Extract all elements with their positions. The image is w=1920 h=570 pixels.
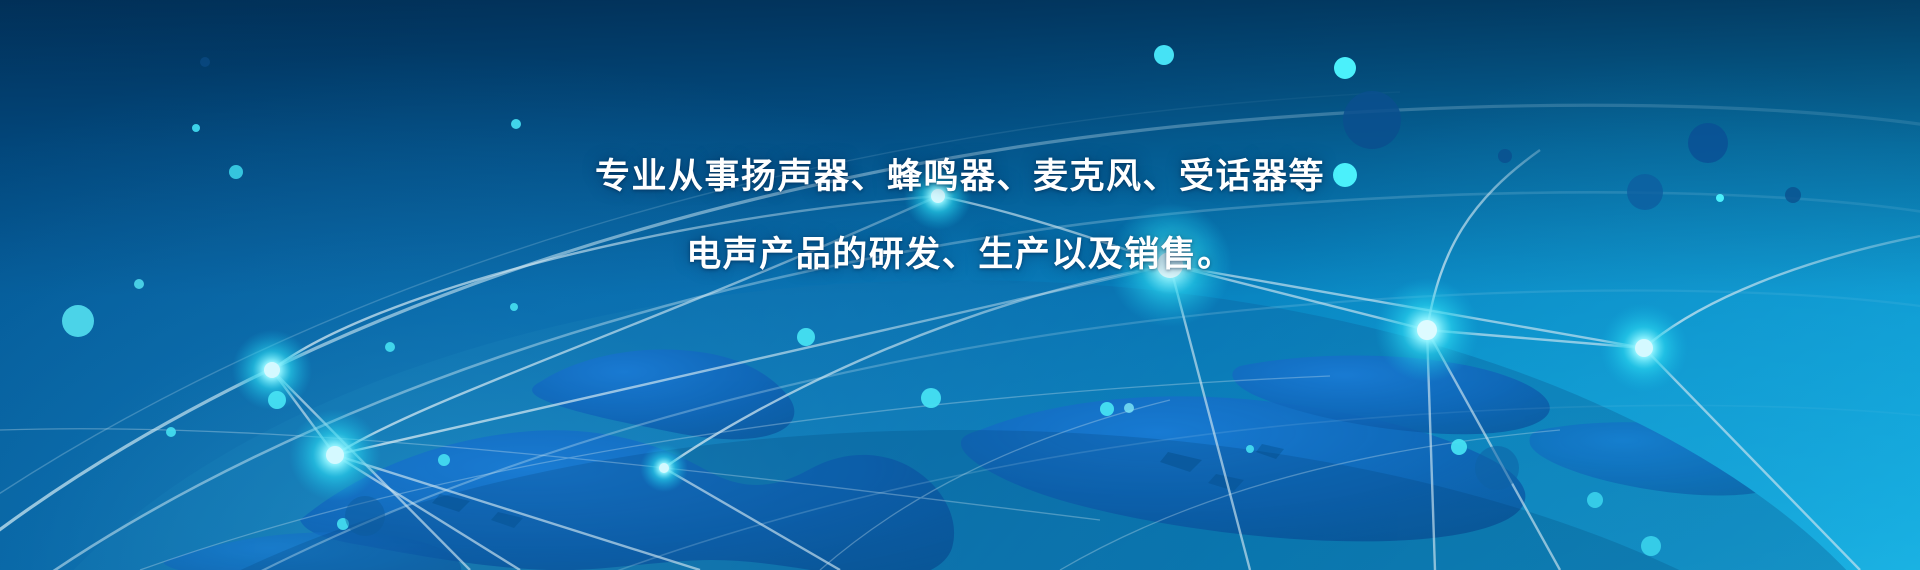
dot-navy-2 (1498, 149, 1512, 163)
dot-cyan-14 (438, 454, 450, 466)
dot-cyan-5 (1333, 163, 1357, 187)
dot-cyan-small-1 (192, 124, 200, 132)
dot-cyan-16 (797, 328, 815, 346)
dot-cyan-22 (1641, 536, 1661, 556)
dot-cyan-7 (229, 165, 243, 179)
dot-cyan-18 (1100, 402, 1114, 416)
dot-cyan-19 (1451, 439, 1467, 455)
dot-navy-7 (345, 496, 385, 536)
dot-navy-1 (1343, 91, 1401, 149)
dot-cyan-8 (62, 305, 94, 337)
dot-cyan-small-2 (511, 119, 521, 129)
dot-navy-4 (1688, 123, 1728, 163)
dot-cyan-11 (268, 391, 286, 409)
dot-cyan-9 (134, 279, 144, 289)
promo-banner: 专业从事扬声器、蜂鸣器、麦克风、受话器等 电声产品的研发、生产以及销售。 (0, 0, 1920, 570)
dot-navy-8 (200, 57, 210, 67)
globe-graphic (0, 0, 1920, 570)
dot-navy-5 (1785, 187, 1801, 203)
dot-cyan-small-3 (1154, 45, 1174, 65)
dot-navy-3 (1627, 174, 1663, 210)
dot-navy-6 (1475, 446, 1519, 490)
dot-cyan-10 (166, 427, 176, 437)
dot-cyan-20 (1246, 445, 1254, 453)
dot-cyan-12 (385, 342, 395, 352)
dot-cyan-23 (1124, 403, 1134, 413)
dot-cyan-15 (510, 303, 518, 311)
dot-cyan-17 (921, 388, 941, 408)
decorative-dot-layer (0, 0, 1920, 570)
dot-cyan-21 (1587, 492, 1603, 508)
dot-cyan-6 (1716, 194, 1724, 202)
dot-cyan-4 (1334, 57, 1356, 79)
